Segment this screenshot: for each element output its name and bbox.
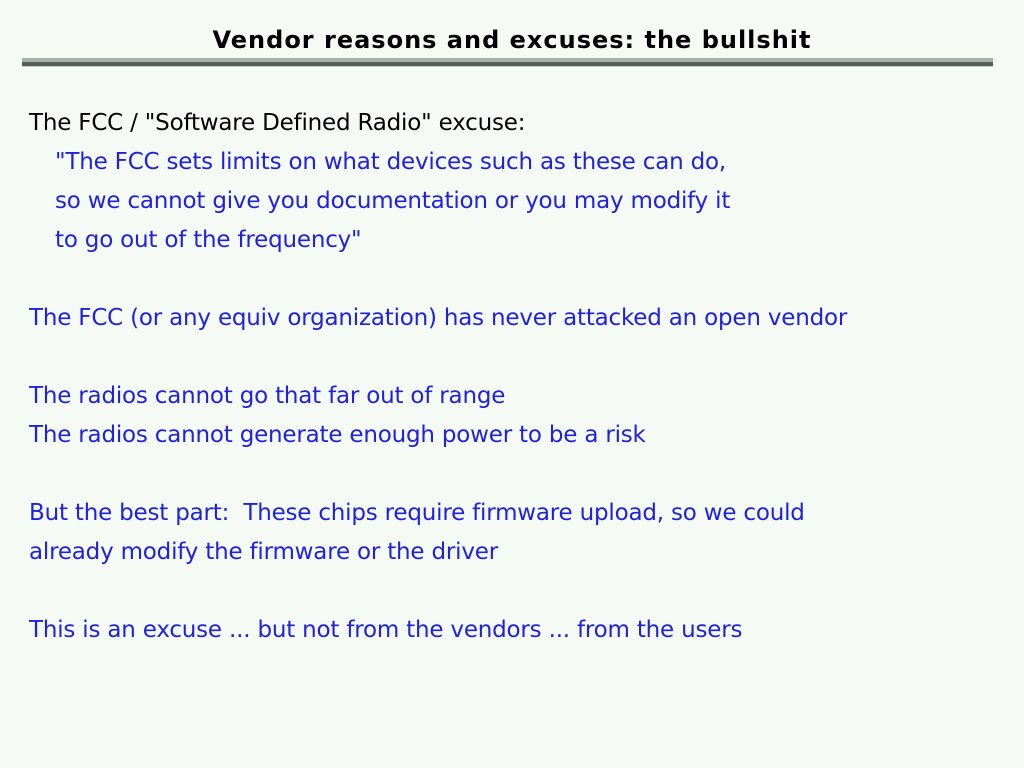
page-title: Vendor reasons and excuses: the bullshit <box>0 26 1024 54</box>
slide: Vendor reasons and excuses: the bullshit… <box>0 0 1024 768</box>
best-part-line-1: But the best part: These chips require f… <box>29 494 1014 533</box>
fcc-excuse-quote-line-1: "The FCC sets limits on what devices suc… <box>29 143 1014 182</box>
never-attacked-line-1: The FCC (or any equiv organization) has … <box>29 299 1014 338</box>
fcc-excuse-quote-line-3: to go out of the frequency" <box>29 221 1014 260</box>
paragraph-gap-1 <box>29 260 1014 299</box>
paragraph-best-part: But the best part: These chips require f… <box>29 494 1014 572</box>
slide-body: The FCC / "Software Defined Radio" excus… <box>29 104 1014 650</box>
paragraph-never-attacked: The FCC (or any equiv organization) has … <box>29 299 1014 338</box>
paragraph-gap-4 <box>29 572 1014 611</box>
paragraph-conclusion: This is an excuse ... but not from the v… <box>29 611 1014 650</box>
best-part-line-2: already modify the firmware or the drive… <box>29 533 1014 572</box>
fcc-excuse-lead-line: The FCC / "Software Defined Radio" excus… <box>29 104 1014 143</box>
divider-shadow-band <box>22 66 993 67</box>
paragraph-gap-2 <box>29 338 1014 377</box>
radios-line-1: The radios cannot go that far out of ran… <box>29 377 1014 416</box>
paragraph-fcc-excuse: The FCC / "Software Defined Radio" excus… <box>29 104 1014 260</box>
paragraph-gap-3 <box>29 455 1014 494</box>
paragraph-radios: The radios cannot go that far out of ran… <box>29 377 1014 455</box>
title-divider <box>22 58 993 67</box>
conclusion-line-1: This is an excuse ... but not from the v… <box>29 611 1014 650</box>
radios-line-2: The radios cannot generate enough power … <box>29 416 1014 455</box>
fcc-excuse-quote-line-2: so we cannot give you documentation or y… <box>29 182 1014 221</box>
